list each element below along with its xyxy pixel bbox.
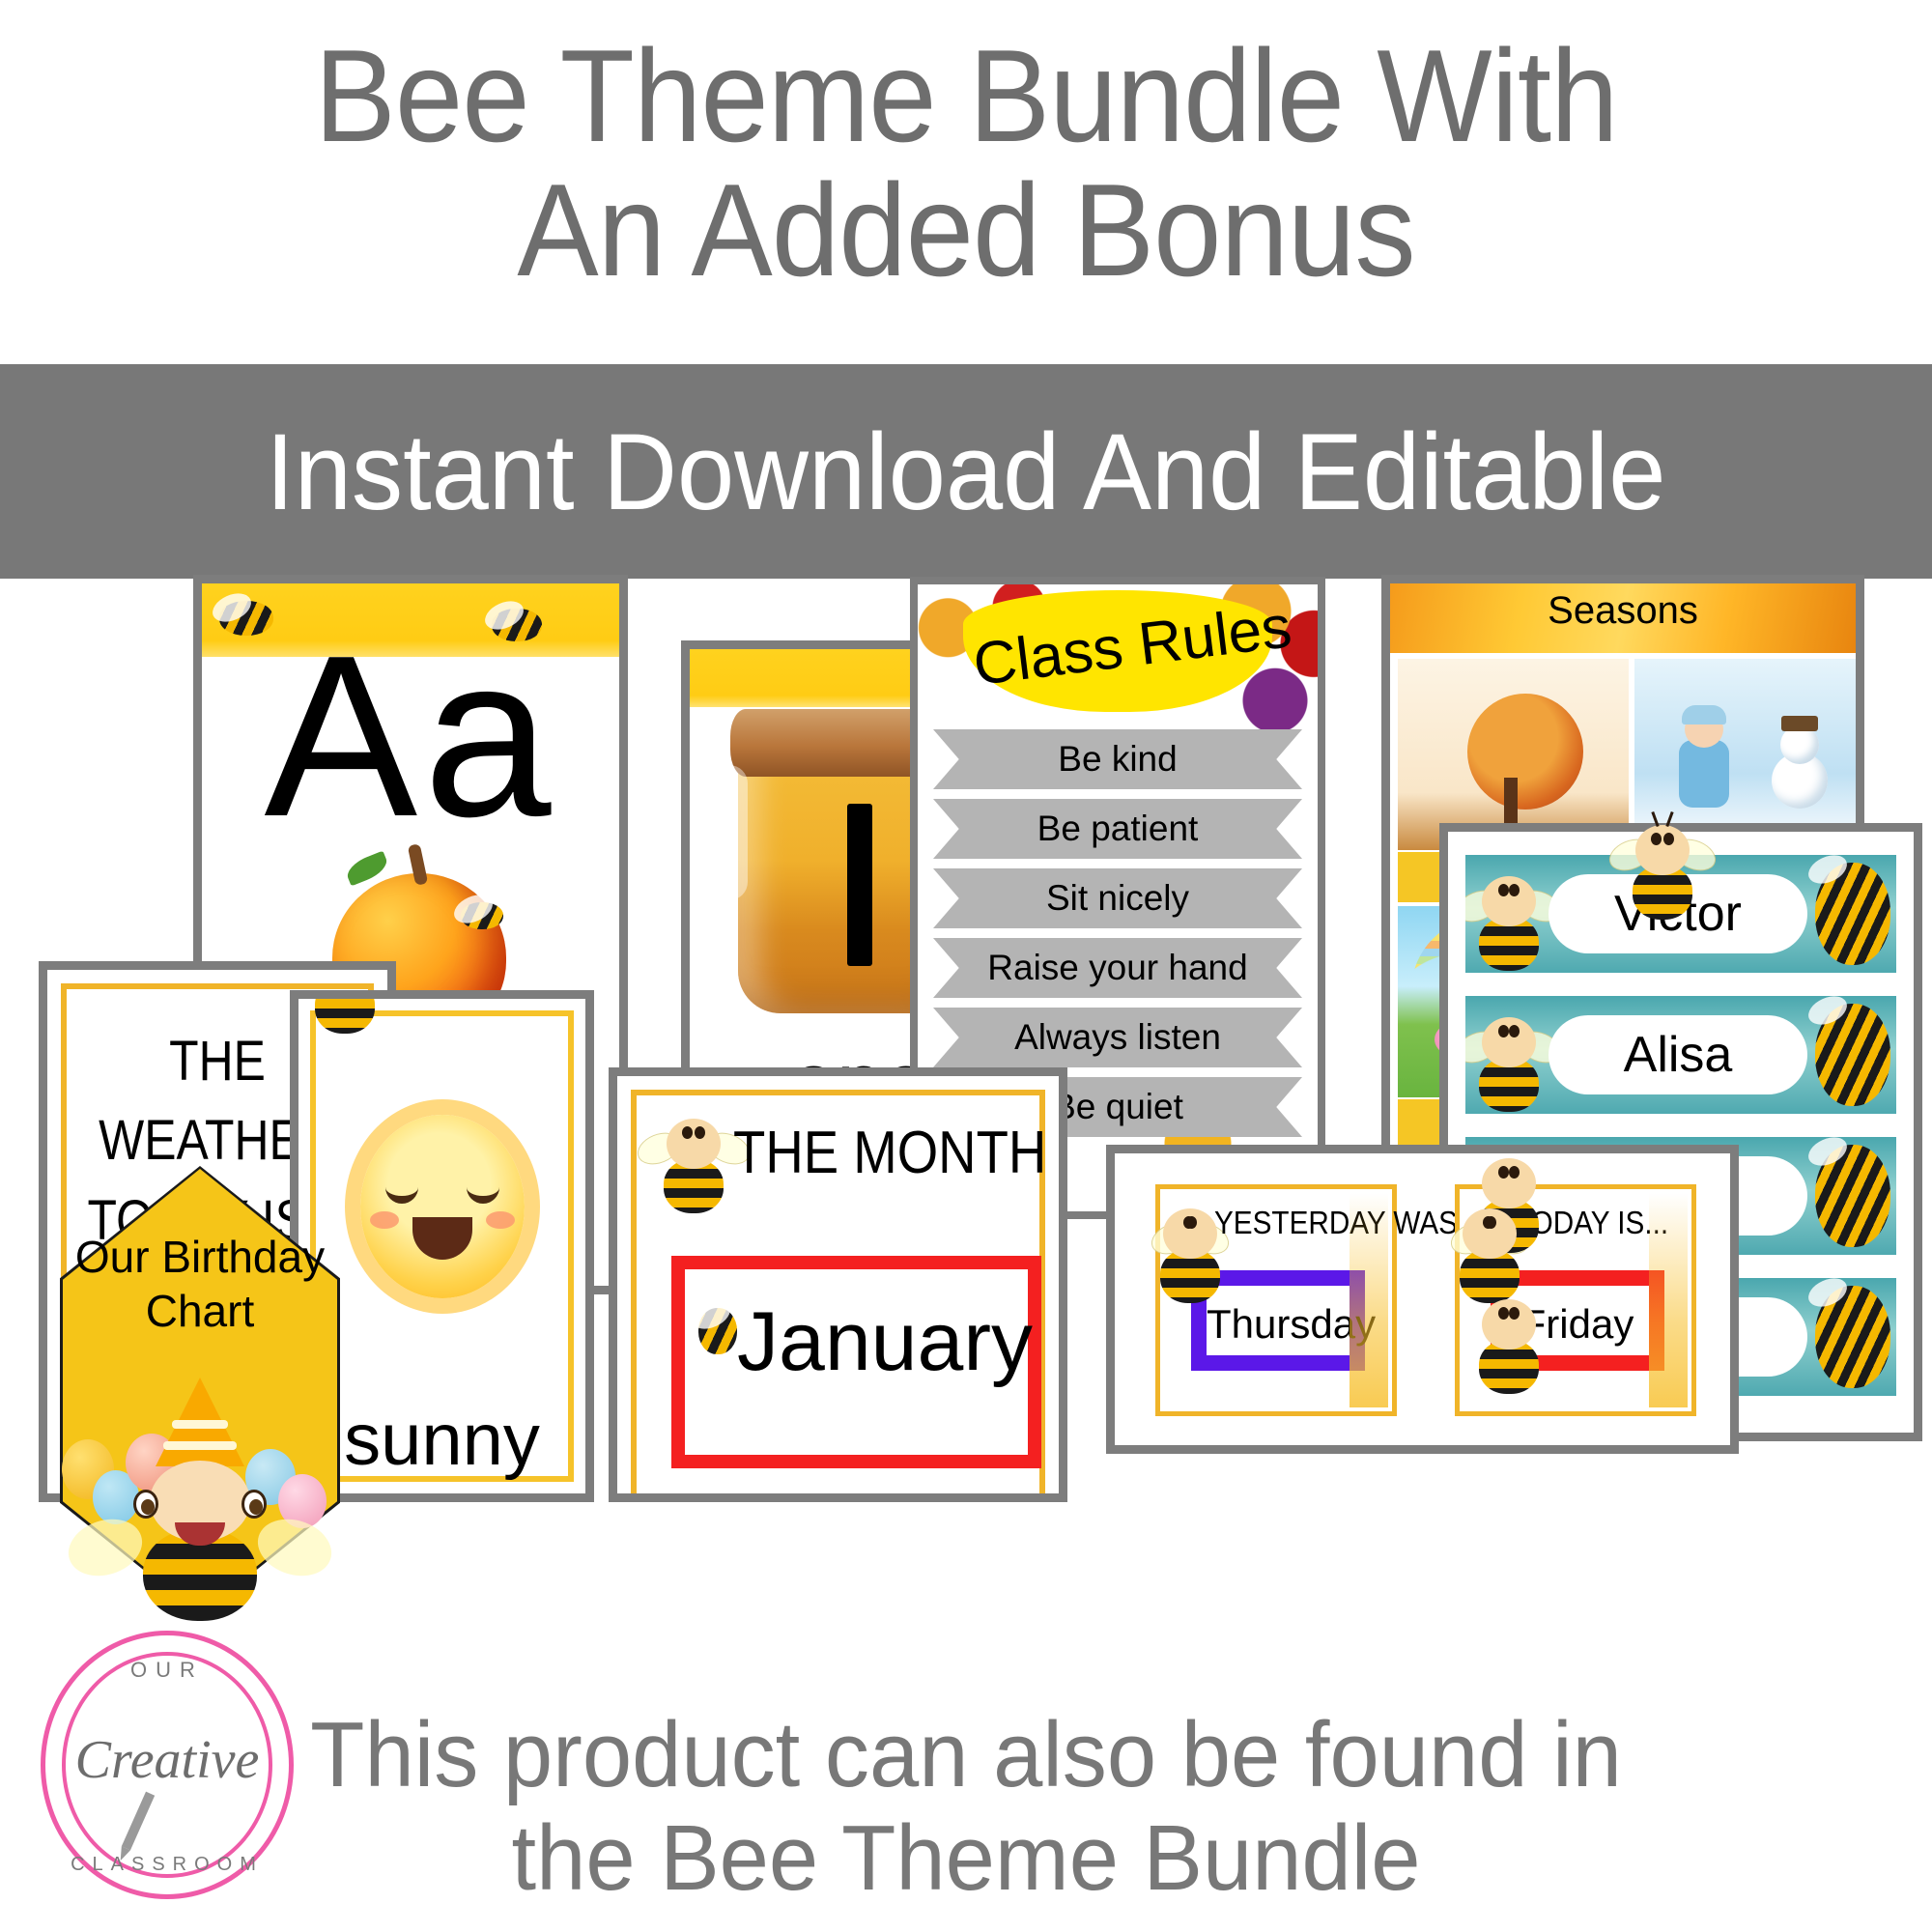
month-value: January <box>737 1294 1033 1390</box>
page-title: Bee Theme Bundle With An Added Bonus <box>68 29 1864 297</box>
bee-icon <box>461 902 503 929</box>
rule-item: Be kind <box>933 729 1302 789</box>
bee-icon <box>1815 1145 1890 1247</box>
rule-item: Always listen <box>933 1008 1302 1067</box>
bee-icon <box>1815 1004 1890 1106</box>
product-preview-collage: Aa apple one Class Rules Be kind Be pati… <box>0 575 1932 1686</box>
rule-item: Be patient <box>933 799 1302 859</box>
instant-download-banner: Instant Download And Editable <box>0 364 1932 579</box>
party-bee-mascot-icon <box>108 1378 292 1609</box>
birthday-chart-title: Our Birthday Chart <box>60 1230 340 1338</box>
footer-line-1: This product can also be found in <box>39 1703 1893 1807</box>
weather-word: sunny <box>298 1398 585 1482</box>
banner-text: Instant Download And Editable <box>266 410 1665 534</box>
poster-birthday-chart[interactable]: Our Birthday Chart <box>60 1166 340 1615</box>
bee-mascot-icon <box>1170 1199 1210 1249</box>
title-line-2: An Added Bonus <box>68 163 1864 298</box>
bee-mascot-icon <box>1475 867 1543 961</box>
jar-glare <box>711 765 748 900</box>
month-prompt: THE MONTH IS... <box>733 1119 1067 1187</box>
bee-icon <box>698 1308 737 1354</box>
bee-mascot-icon <box>656 1109 731 1206</box>
floral-corner-decoration <box>1350 1193 1388 1407</box>
bee-icon <box>1815 1286 1890 1388</box>
yesterday-value: Thursday <box>1207 1301 1350 1348</box>
name-tag[interactable]: Alisa <box>1465 996 1896 1114</box>
bee-icon <box>1815 863 1890 965</box>
floral-corner-decoration <box>1649 1193 1688 1407</box>
name-tag-label: Alisa <box>1548 1015 1807 1094</box>
month-value-box: January <box>671 1256 1041 1468</box>
title-line-1: Bee Theme Bundle With <box>314 22 1617 169</box>
logo-top-word: OUR <box>17 1658 317 1683</box>
numeral-one <box>847 804 872 966</box>
bee-mascot-icon <box>1475 1008 1543 1102</box>
birthday-title-line-2: Chart <box>60 1284 340 1338</box>
footer-note: This product can also be found in the Be… <box>39 1703 1893 1911</box>
sun-illustration <box>360 1115 525 1298</box>
yesterday-label: YESTERDAY WAS... <box>1214 1205 1482 1241</box>
rule-item: Sit nicely <box>933 868 1302 928</box>
footer-line-2: the Bee Theme Bundle <box>39 1806 1893 1911</box>
birthday-title-line-1: Our Birthday <box>60 1230 340 1284</box>
card-yesterday[interactable]: YESTERDAY WAS... Thursday <box>1155 1184 1397 1416</box>
bee-mascot-icon <box>1628 815 1697 904</box>
alphabet-letters: Aa <box>202 622 619 852</box>
bee-mascot-icon <box>316 990 374 999</box>
season-image-fall <box>1398 659 1629 850</box>
card-month[interactable]: THE MONTH IS... January <box>609 1067 1067 1502</box>
rule-item: Raise your hand <box>933 938 1302 998</box>
card-days-of-week[interactable]: YESTERDAY WAS... Thursday TODAY IS... Fr… <box>1106 1145 1739 1454</box>
seasons-header-band: Seasons <box>1390 583 1856 653</box>
seasons-title: Seasons <box>1390 589 1856 633</box>
